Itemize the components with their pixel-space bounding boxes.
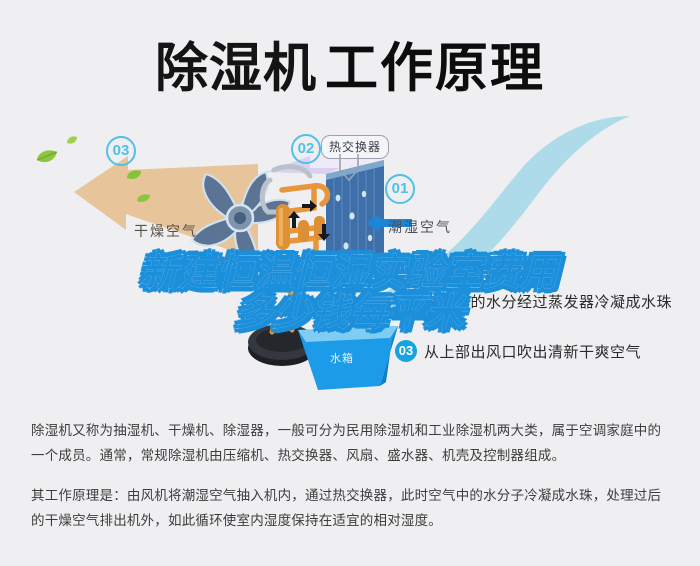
leaf-icon xyxy=(66,136,78,146)
infographic-page: 除湿机工作原理 xyxy=(0,0,700,566)
step-text-03: 从上部出风口吹出清新干爽空气 xyxy=(424,341,641,362)
badge-02-heat-exchanger: 02 xyxy=(291,134,321,164)
step-text-02: 空气中的水分经过蒸发器冷凝成水珠 xyxy=(424,291,672,312)
paragraph-1: 除湿机又称为抽湿机、干燥机、除湿器，一般可分为民用除湿机和工业除湿机两大类，属于… xyxy=(31,418,671,468)
title-part-a: 除湿机 xyxy=(155,39,317,98)
humid-air-label: 潮湿空气 xyxy=(388,217,452,237)
badge-03-dry-air: 03 xyxy=(106,136,136,166)
water-tank-label: 水箱 xyxy=(330,350,354,366)
page-title: 除湿机工作原理 xyxy=(0,26,700,102)
callout-stem-icon xyxy=(337,154,361,182)
leaf-icon xyxy=(126,170,142,182)
badge-01-humid-air: 01 xyxy=(385,174,415,204)
leaf-icon xyxy=(136,194,151,205)
leaf-icon xyxy=(36,150,58,166)
illustration-stage: 水箱 03 干燥空气 02 热交换器 01 潮湿空气 02 空气中的水分经过蒸发… xyxy=(0,118,700,386)
paragraph-2: 其工作原理是：由风机将潮湿空气抽入机内，通过热交换器，此时空气中的水分子冷凝成水… xyxy=(31,483,671,533)
dry-air-label: 干燥空气 xyxy=(134,221,198,241)
step-line-03: 03 从上部出风口吹出清新干爽空气 xyxy=(395,340,641,362)
step-line-02: 02 空气中的水分经过蒸发器冷凝成水珠 xyxy=(395,290,672,312)
step-badge-03: 03 xyxy=(395,340,417,362)
step-badge-02: 02 xyxy=(395,290,417,312)
title-part-b: 工作原理 xyxy=(325,39,545,98)
